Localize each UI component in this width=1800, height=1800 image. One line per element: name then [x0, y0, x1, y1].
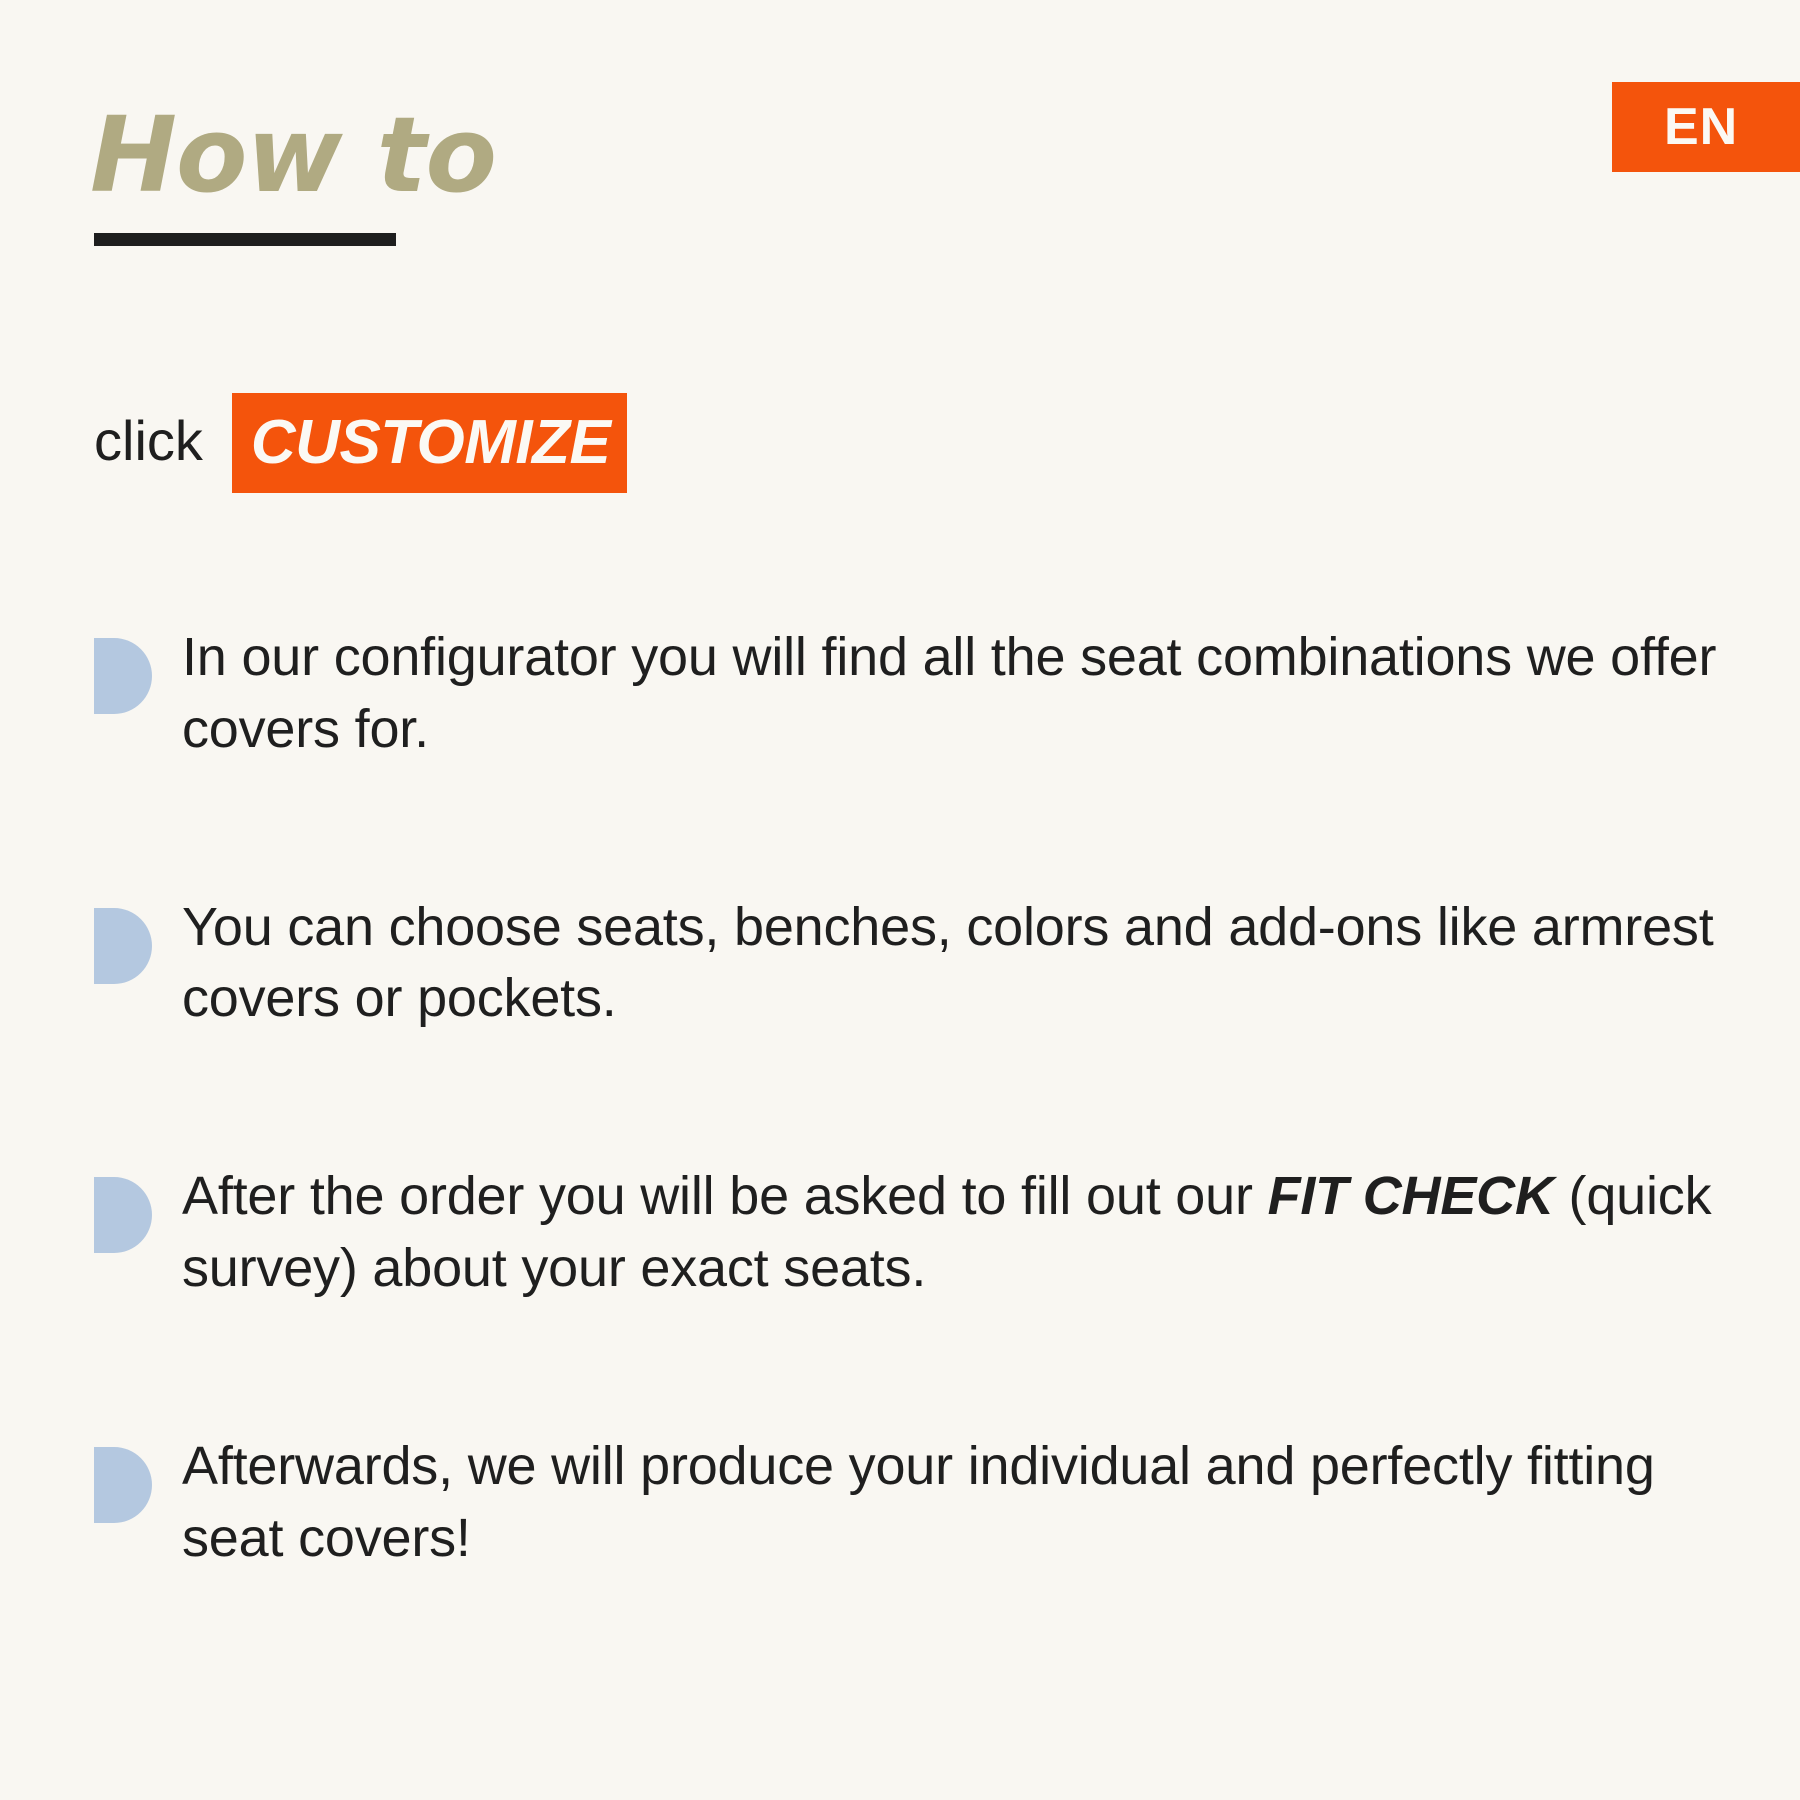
cta-prefix-label: click — [94, 413, 203, 473]
page-title: How to — [90, 103, 496, 207]
bullet-marker-icon — [94, 638, 152, 714]
bullet-marker-icon — [94, 1177, 152, 1253]
instruction-list: In our configurator you will find all th… — [94, 622, 1754, 1575]
list-item-text: You can choose seats, benches, colors an… — [182, 892, 1754, 1036]
how-to-card: EN How to click CUSTOMIZE In our configu… — [0, 0, 1800, 1800]
list-item-text-lead: After the order you will be asked to fil… — [182, 1166, 1268, 1226]
bullet-marker-icon — [94, 908, 152, 984]
title-underline-rule — [94, 233, 396, 246]
list-item: In our configurator you will find all th… — [94, 622, 1754, 766]
list-item-text: After the order you will be asked to fil… — [182, 1161, 1754, 1305]
list-item-text: In our configurator you will find all th… — [182, 622, 1754, 766]
customize-button-highlight[interactable]: CUSTOMIZE — [232, 393, 627, 493]
bullet-marker-icon — [94, 1447, 152, 1523]
list-item-text: Afterwards, we will produce your individ… — [182, 1431, 1754, 1575]
language-badge[interactable]: EN — [1612, 82, 1800, 172]
cta-instruction: click CUSTOMIZE — [94, 393, 627, 493]
fit-check-emphasis: FIT CHECK — [1268, 1166, 1554, 1226]
language-badge-label: EN — [1664, 101, 1738, 153]
list-item: You can choose seats, benches, colors an… — [94, 892, 1754, 1036]
list-item: After the order you will be asked to fil… — [94, 1161, 1754, 1305]
list-item: Afterwards, we will produce your individ… — [94, 1431, 1754, 1575]
